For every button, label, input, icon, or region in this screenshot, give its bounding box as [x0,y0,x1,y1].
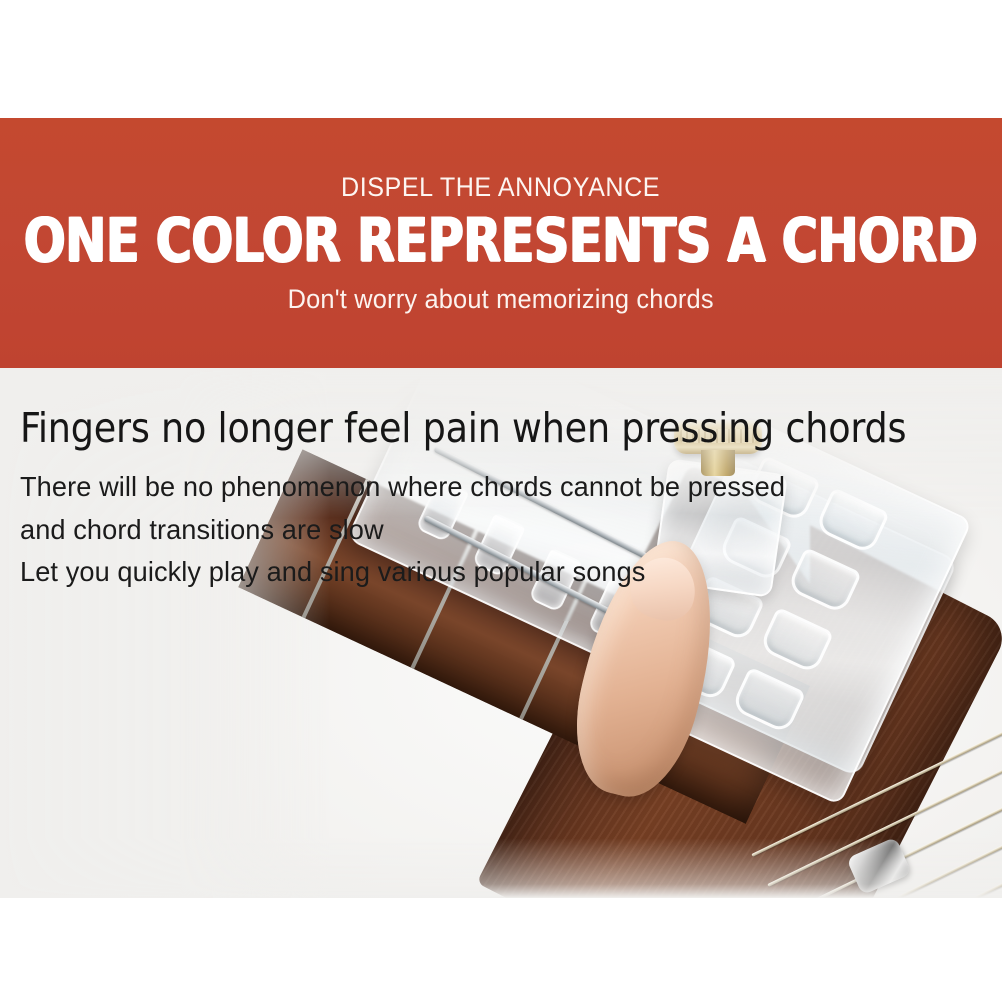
feature-body-line-3: Let you quickly play and sing various po… [20,551,893,594]
chord-key-slot [758,607,834,675]
feature-body-line-1: There will be no phenomenon where chords… [20,466,893,509]
banner-eyebrow-text: DISPEL THE ANNOYANCE [341,174,660,201]
hero-banner-content: DISPEL THE ANNOYANCE ONE COLOR REPRESENT… [0,118,1002,368]
feature-copy: Fingers no longer feel pain when pressin… [20,406,920,594]
banner-subtitle: Don't worry about memorizing chords [288,286,714,313]
feature-panel: Fingers no longer feel pain when pressin… [0,368,1002,898]
chord-key-slot [731,667,807,735]
bottom-white-band [0,898,1002,1002]
banner-headline: ONE COLOR REPRESENTS A CHORD [24,211,977,271]
product-infographic-page: DISPEL THE ANNOYANCE ONE COLOR REPRESENT… [0,0,1002,1002]
feature-body-line-2: and chord transitions are slow [20,509,893,552]
feature-headline: Fingers no longer feel pain when pressin… [20,406,911,450]
top-white-band [0,0,1002,118]
hero-banner: DISPEL THE ANNOYANCE ONE COLOR REPRESENT… [0,118,1002,368]
